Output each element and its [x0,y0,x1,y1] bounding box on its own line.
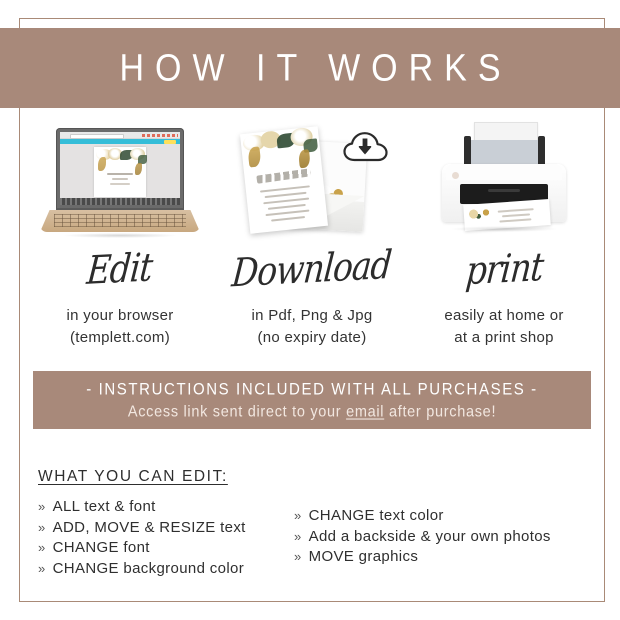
bullet-icon: » [294,529,302,544]
list-item-label: Add a backside & your own photos [309,528,551,545]
steps-row: Edit in your browser (templett.com) [24,118,600,353]
laptop-illustration [24,118,216,246]
pampas-icon [298,149,311,168]
pampas-icon [135,163,142,175]
list-item-label: CHANGE background color [53,560,244,577]
list-item-label: ADD, MOVE & RESIZE text [53,519,246,536]
printer-shadow [450,226,558,232]
caption-line-2: at a print shop [444,327,563,349]
bullet-icon: » [294,508,302,523]
laptop-screen [60,132,180,205]
step-edit: Edit in your browser (templett.com) [24,118,216,353]
printed-text-line [498,208,534,212]
card-names-script [256,168,311,183]
instructions-headline: - INSTRUCTIONS INCLUDED WITH ALL PURCHAS… [86,380,538,398]
laptop-lid [56,128,184,212]
preview-names-line [107,173,133,175]
list-item: » CHANGE font [38,539,294,556]
invitation-preview [94,147,146,197]
printed-text-line [502,213,530,216]
power-button [452,172,459,179]
list-item: » ADD, MOVE & RESIZE text [38,519,294,536]
list-item: » Add a backside & your own photos [294,528,586,545]
list-item-label: MOVE graphics [309,548,419,565]
preview-text-line [112,178,128,180]
list-item-label: CHANGE text color [309,507,444,524]
caption-line-2: (no expiry date) [251,327,372,349]
printer-illustration [408,118,600,246]
edit-lists: » ALL text & font » ADD, MOVE & RESIZE t… [38,498,586,577]
url-field [70,134,124,139]
browser-extension-icons [142,134,178,137]
step-script-label: print [464,247,544,290]
invitation-card-front [240,126,328,234]
card-text-line [265,210,309,216]
preview-text-line [110,183,130,185]
bullet-icon: » [38,540,46,555]
caption-line-2: (templett.com) [66,327,173,349]
laptop-shadow [62,233,178,238]
bullet-icon: » [294,549,302,564]
printer-graphic [424,122,584,246]
list-item-label: CHANGE font [53,539,150,556]
step-download: Download in Pdf, Png & Jpg (no expiry da… [216,118,408,353]
header-banner: HOW IT WORKS [0,28,620,108]
printed-text-line [499,218,531,222]
card-text-line [268,204,306,209]
step-script-label: Download [231,245,393,292]
step-script-label: Edit [86,247,154,290]
invitation-cards-graphic [237,126,387,246]
taskbar [60,198,180,205]
list-item: » CHANGE background color [38,560,294,577]
edit-list-left: » ALL text & font » ADD, MOVE & RESIZE t… [38,498,294,577]
card-text-line [265,192,307,198]
bullet-icon: » [38,561,46,576]
bullet-icon: » [38,499,46,514]
list-item: » MOVE graphics [294,548,586,565]
bullet-icon: » [38,520,46,535]
browser-canvas [60,144,180,198]
step-caption: easily at home or at a print shop [444,305,563,349]
email-link: email [346,403,384,420]
list-item: » ALL text & font [38,498,294,515]
caption-line-1: easily at home or [444,305,563,327]
list-item-label: ALL text & font [53,498,156,515]
card-text-line [271,216,305,221]
subline-after: after purchase! [384,403,496,420]
page-title: HOW IT WORKS [108,46,511,90]
cards-illustration [216,118,408,246]
step-caption: in Pdf, Png & Jpg (no expiry date) [251,305,372,349]
edit-list-right: » CHANGE text color » Add a backside & y… [294,498,586,577]
list-item: » CHANGE text color [294,507,586,524]
listing-graphic: HOW IT WORKS [0,0,620,620]
laptop-graphic [40,128,200,246]
floral-motif [467,206,494,223]
subline-before: Access link sent direct to your [128,403,346,420]
browser-url-bar [60,132,180,139]
instructions-banner: - INSTRUCTIONS INCLUDED WITH ALL PURCHAS… [33,371,591,429]
card-text-line [263,197,309,203]
pampas-icon [98,157,106,171]
step-print: print easily at home or at a print shop [408,118,600,353]
laptop-keyboard [54,214,186,227]
cloud-download-icon [343,130,389,164]
step-caption: in your browser (templett.com) [66,305,173,349]
edit-section-heading: WHAT YOU CAN EDIT: [38,468,228,486]
pampas-icon [247,146,261,167]
printer-lid [446,164,562,180]
caption-line-1: in your browser [66,305,173,327]
instructions-subline: Access link sent direct to your email af… [128,403,496,420]
caption-line-1: in Pdf, Png & Jpg [251,305,372,327]
